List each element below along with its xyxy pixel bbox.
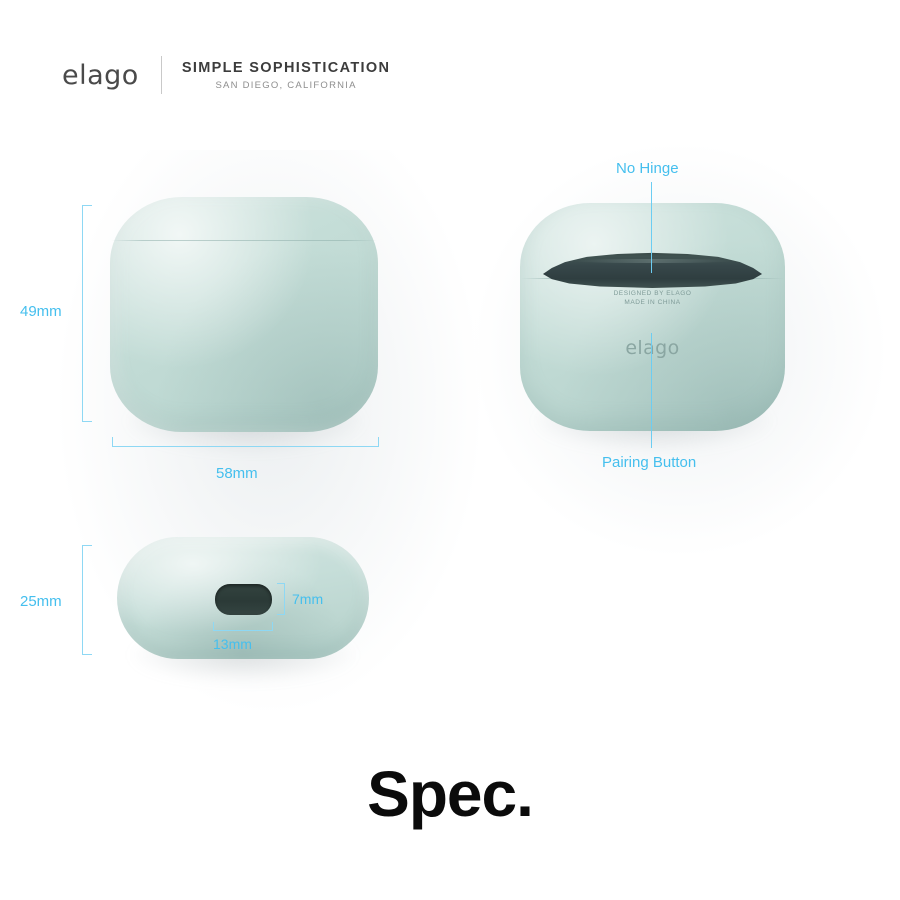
callout-label-pairing-button: Pairing Button xyxy=(602,454,696,471)
brand-logo: elago xyxy=(62,60,139,91)
dimension-label-port-width: 13mm xyxy=(213,636,252,652)
charging-port xyxy=(215,584,272,615)
gap-highlight xyxy=(574,259,732,263)
page-title: Spec. xyxy=(0,757,900,831)
dimension-label-port-height: 7mm xyxy=(292,591,323,607)
dimension-label-width: 58mm xyxy=(216,465,258,482)
spec-sheet-page: elago SIMPLE SOPHISTICATION SAN DIEGO, C… xyxy=(0,0,900,900)
callout-leader-no-hinge xyxy=(651,182,652,273)
header-divider xyxy=(161,56,162,94)
callout-label-no-hinge: No Hinge xyxy=(616,160,679,177)
width-measure-bracket xyxy=(112,437,379,447)
height-measure-bracket xyxy=(82,205,92,422)
tagline-location: SAN DIEGO, CALIFORNIA xyxy=(215,80,356,91)
case-lid-seam xyxy=(111,240,377,241)
depth-measure-bracket xyxy=(82,545,92,655)
case-back-view: DESIGNED BY ELAGO MADE IN CHINA elago xyxy=(520,203,785,431)
engraving-made-in: MADE IN CHINA xyxy=(520,298,785,307)
port-width-measure-bracket xyxy=(213,622,273,631)
tagline-primary: SIMPLE SOPHISTICATION xyxy=(182,60,391,76)
engraving-designed-by: DESIGNED BY ELAGO xyxy=(520,289,785,298)
brand-tagline: SIMPLE SOPHISTICATION SAN DIEGO, CALIFOR… xyxy=(182,60,391,91)
case-front-view xyxy=(110,197,378,432)
port-height-measure-bracket xyxy=(277,583,285,615)
dimension-label-height: 49mm xyxy=(20,303,62,320)
dimension-label-depth: 25mm xyxy=(20,593,62,610)
hinge-free-gap xyxy=(543,251,762,288)
case-back-logo: elago xyxy=(520,337,785,359)
brand-header: elago SIMPLE SOPHISTICATION SAN DIEGO, C… xyxy=(62,52,390,98)
callout-leader-pairing-button xyxy=(651,333,652,448)
